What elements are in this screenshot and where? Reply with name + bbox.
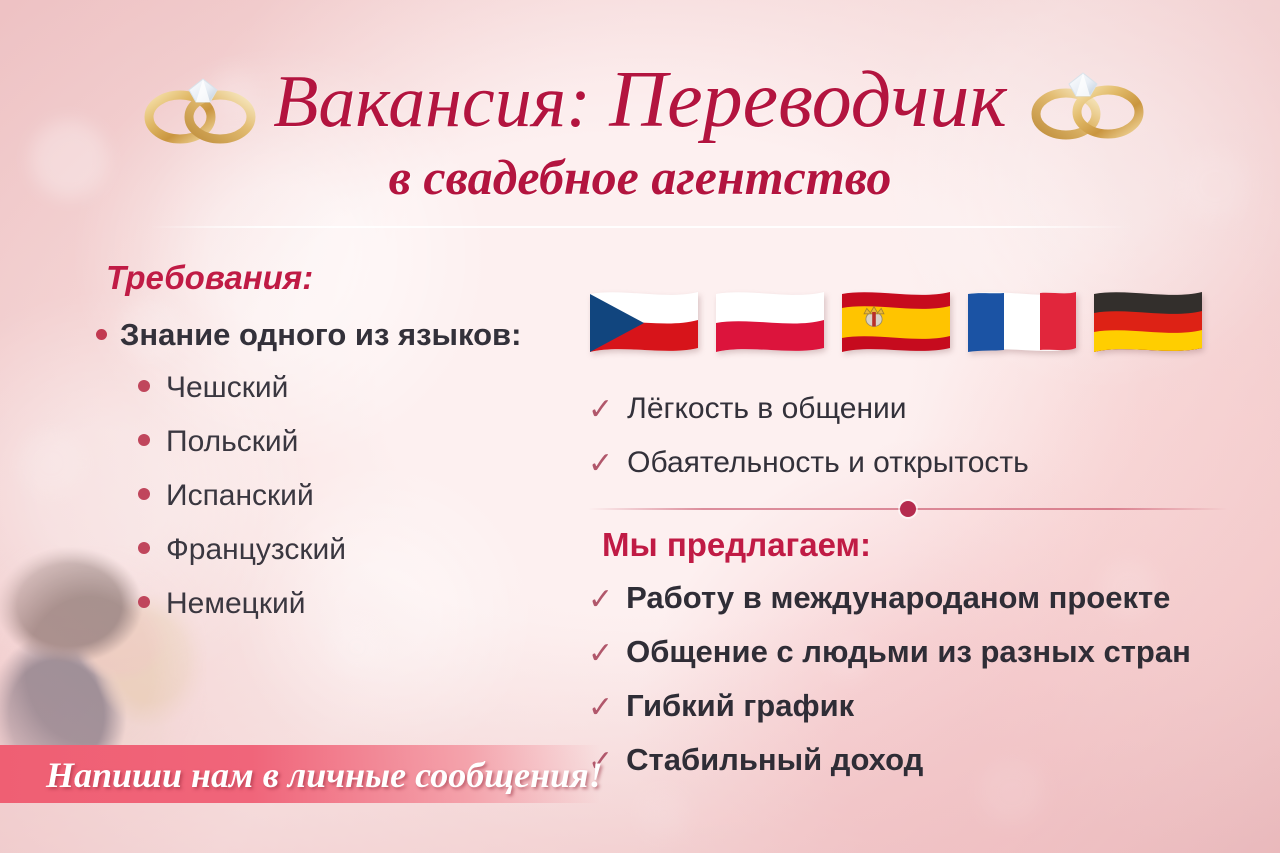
poland-flag-icon	[714, 286, 826, 358]
offer-label: Общение с людьми из разных стран	[626, 632, 1191, 672]
language-label: Немецкий	[166, 584, 305, 624]
header-divider	[150, 226, 1130, 228]
language-label: Польский	[166, 422, 298, 462]
language-label: Чешский	[166, 368, 288, 408]
languages-lead-item: Знание одного из языков:	[96, 316, 566, 354]
list-item: ✓ Работу в международаном проекте	[588, 578, 1228, 618]
list-item: ✓ Гибкий график	[588, 686, 1228, 726]
languages-lead-label: Знание одного из языков:	[120, 316, 521, 354]
list-item: ✓ Обаятельность и открытость	[588, 444, 1228, 482]
bullet-dot-icon	[138, 434, 150, 446]
list-item: Испанский	[138, 476, 566, 516]
check-icon: ✓	[588, 449, 613, 479]
languages-list: Чешский Польский Испанский Французский Н…	[96, 368, 566, 624]
language-label: Испанский	[166, 476, 314, 516]
cta-text: Напиши нам в личные сообщения!	[46, 749, 603, 801]
bullet-dot-icon	[96, 329, 107, 340]
title-keyword: Переводчик	[609, 56, 1006, 144]
poster-title-row: Вакансия: Переводчик	[0, 54, 1280, 146]
cta-banner[interactable]: Напиши нам в личные сообщения!	[0, 745, 600, 803]
offer-list: ✓ Работу в международаном проекте ✓ Обще…	[588, 578, 1228, 780]
list-item: ✓ Лёгкость в общении	[588, 390, 1228, 428]
language-label: Французский	[166, 530, 346, 570]
bullet-dot-icon	[138, 380, 150, 392]
section-divider	[588, 498, 1228, 520]
poster-canvas: Вакансия: Переводчик в свадебное агентст…	[0, 0, 1280, 853]
bullet-dot-icon	[138, 596, 150, 608]
title-prefix: Вакансия:	[273, 61, 591, 143]
list-item: Французский	[138, 530, 566, 570]
bullet-dot-icon	[138, 488, 150, 500]
check-icon: ✓	[588, 639, 613, 669]
bullet-dot-icon	[138, 542, 150, 554]
offer-label: Гибкий график	[626, 686, 854, 726]
offer-label: Работу в международаном проекте	[626, 578, 1170, 618]
quality-label: Лёгкость в общении	[627, 390, 906, 428]
list-item: ✓ Стабильный доход	[588, 740, 1228, 780]
offer-heading: Мы предлагаем:	[602, 524, 1228, 566]
list-item: Польский	[138, 422, 566, 462]
check-icon: ✓	[588, 693, 613, 723]
divider-dot-icon	[900, 501, 916, 517]
page-title: Вакансия: Переводчик	[0, 54, 1280, 148]
qualities-list: ✓ Лёгкость в общении ✓ Обаятельность и о…	[588, 390, 1228, 482]
list-item: Немецкий	[138, 584, 566, 624]
check-icon: ✓	[588, 585, 613, 615]
germany-flag-icon	[1092, 286, 1204, 358]
page-subtitle: в свадебное агентство	[0, 148, 1280, 206]
offer-label: Стабильный доход	[626, 740, 923, 780]
list-item: ✓ Общение с людьми из разных стран	[588, 632, 1228, 672]
czech-flag-icon	[588, 286, 700, 358]
spain-flag-icon	[840, 286, 952, 358]
list-item: Чешский	[138, 368, 566, 408]
check-icon: ✓	[588, 395, 613, 425]
quality-label: Обаятельность и открытость	[627, 444, 1029, 482]
offer-section: ✓ Лёгкость в общении ✓ Обаятельность и о…	[588, 286, 1228, 794]
requirements-section: Требования: Знание одного из языков: Чеш…	[96, 258, 566, 638]
france-flag-icon	[966, 286, 1078, 358]
flags-row	[588, 286, 1228, 368]
requirements-heading: Требования:	[106, 258, 566, 298]
